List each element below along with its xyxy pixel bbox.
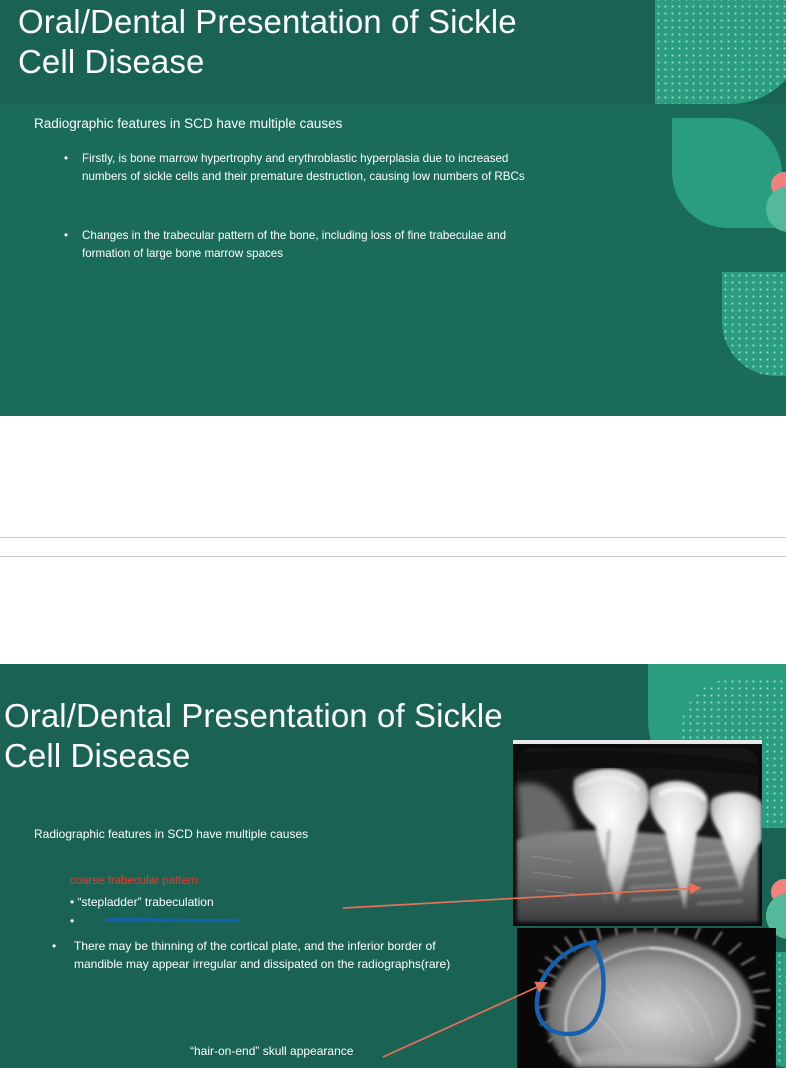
red-annotation-coarse-trabecular-pattern: coarse trabecular pattern	[70, 875, 198, 887]
slide-2-lead-line: Radiographic features in SCD have multip…	[34, 827, 308, 841]
slide-1[interactable]: Oral/Dental Presentation of Sickle Cell …	[0, 0, 786, 416]
slide-1-bullet-item: • Changes in the trabecular pattern of t…	[64, 227, 534, 263]
bullet-text: Firstly, is bone marrow hypertrophy and …	[82, 150, 534, 186]
blue-underline-annotation	[104, 917, 240, 924]
dental-periapical-radiograph	[513, 740, 762, 926]
page-separator-line	[0, 537, 786, 538]
slide-2-bullet-item: • There may be thinning of the cortical …	[52, 937, 472, 973]
slide-1-title: Oral/Dental Presentation of Sickle Cell …	[18, 2, 638, 83]
slide-2-sub-bullet: •	[70, 914, 74, 928]
lateral-skull-radiograph	[517, 928, 776, 1068]
slide-1-lead-line: Radiographic features in SCD have multip…	[34, 116, 342, 131]
bullet-marker-icon: •	[64, 227, 82, 263]
bullet-text: There may be thinning of the cortical pl…	[74, 937, 472, 973]
bullet-marker-icon: •	[64, 150, 82, 186]
skull-radiograph-graphic	[517, 928, 776, 1068]
bullet-text: Changes in the trabecular pattern of the…	[82, 227, 534, 263]
hair-on-end-caption: “hair-on-end” skull appearance	[190, 1044, 353, 1058]
page-separator-line	[0, 556, 786, 557]
slide-2-sub-bullet: • “stepladder” trabeculation	[70, 895, 214, 909]
dental-radiograph-graphic	[513, 744, 762, 926]
slide-document-page: Oral/Dental Presentation of Sickle Cell …	[0, 0, 786, 1068]
bullet-marker-icon: •	[52, 937, 74, 973]
slide-1-bullet-item: • Firstly, is bone marrow hypertrophy an…	[64, 150, 534, 186]
